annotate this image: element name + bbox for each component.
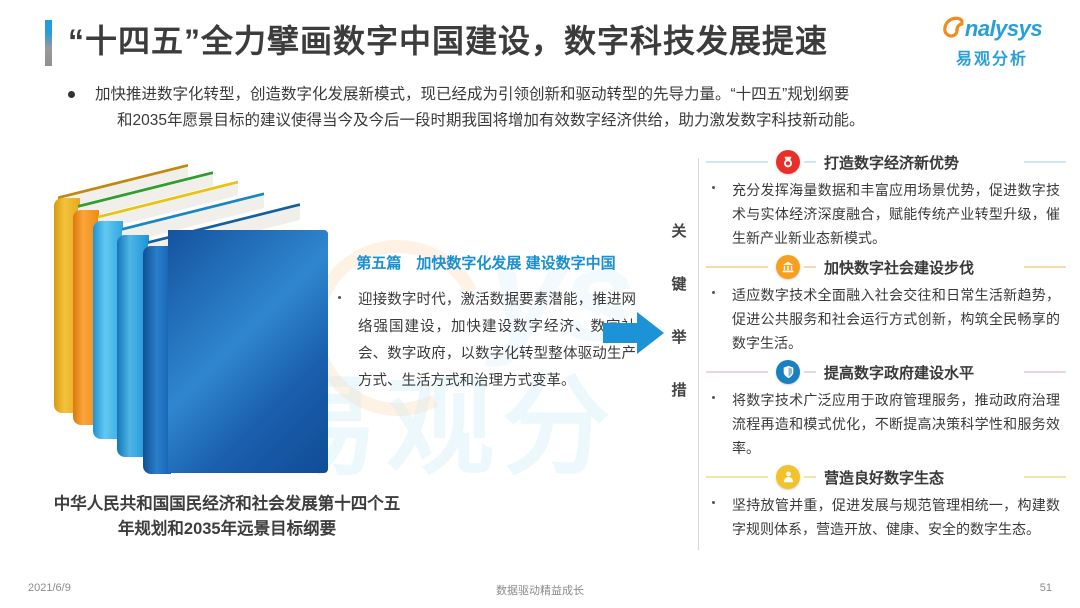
- title-accent-bar: [45, 20, 52, 66]
- intro-text: 加快推进数字化转型，创造数字化发展新模式，现已经成为引领创新和驱动转型的先导力量…: [95, 82, 1060, 134]
- section-line-right-2: [1024, 371, 1066, 373]
- section-bullet-dot-1: [712, 291, 715, 294]
- section-title-1: 加快数字社会建设步伐: [824, 257, 974, 278]
- logo-subtitle: 易观分析: [932, 45, 1052, 69]
- vlabel-char-0: 关: [668, 205, 690, 258]
- book-spine-5: [143, 246, 171, 474]
- section-bullet-dot-2: [712, 396, 715, 399]
- intro-line-2: 和2035年愿景目标的建议使得当今及今后一段时期我国将增加有效数字经济供给，助力…: [95, 108, 1060, 134]
- section-body-0: 充分发挥海量数据和丰富应用场景优势，促进数字技术与实体经济深度融合，赋能传统产业…: [706, 176, 1066, 250]
- section-body-3: 坚持放管并重，促进发展与规范管理相统一，构建数字规则体系，营造开放、健康、安全的…: [706, 491, 1066, 541]
- footer-page-number: 51: [1040, 582, 1052, 594]
- section-text-1: 适应数字技术全面融入社会交往和日常生活新趋势，促进公共服务和社会运行方式创新，构…: [732, 283, 1066, 355]
- analysys-logo: nalysys 易观分析: [932, 14, 1052, 69]
- section-header-3: 营造良好数字生态: [706, 463, 1066, 491]
- intro-bullet-dot: [68, 91, 75, 98]
- center-bullet-dot: [338, 296, 341, 299]
- section-header-1: 加快数字社会建设步伐: [706, 253, 1066, 281]
- logo-name: nalysys: [965, 16, 1042, 42]
- section-line-mid-3: [804, 476, 816, 478]
- caption-line-1: 中华人民共和国国民经济和社会发展第十四个五: [22, 492, 432, 517]
- section-text-0: 充分发挥海量数据和丰富应用场景优势，促进数字技术与实体经济深度融合，赋能传统产业…: [732, 178, 1066, 250]
- section-text-3: 坚持放管并重，促进发展与规范管理相统一，构建数字规则体系，营造开放、健康、安全的…: [732, 493, 1066, 541]
- center-text-block: 第五篇 加快数字化发展 建设数字中国 迎接数字时代，激活数据要素潜能，推进网络强…: [336, 252, 636, 395]
- section-line-right-3: [1024, 476, 1066, 478]
- caption-line-2: 年规划和2035年远景目标纲要: [22, 517, 432, 542]
- center-heading: 第五篇 加快数字化发展 建设数字中国: [336, 252, 636, 273]
- measure-section-3: 营造良好数字生态 坚持放管并重，促进发展与规范管理相统一，构建数字规则体系，营造…: [706, 463, 1066, 541]
- panel-divider-line: [698, 158, 699, 550]
- center-paragraph: 迎接数字时代，激活数据要素潜能，推进网络强国建设，加快建设数字经济、数字社会、数…: [358, 287, 636, 395]
- measure-section-2: 提高数字政府建设水平 将数字技术广泛应用于政府管理服务，推动政府治理流程再造和模…: [706, 358, 1066, 460]
- measure-section-1: 加快数字社会建设步伐 适应数字技术全面融入社会交往和日常生活新趋势，促进公共服务…: [706, 253, 1066, 355]
- section-body-1: 适应数字技术全面融入社会交往和日常生活新趋势，促进公共服务和社会运行方式创新，构…: [706, 281, 1066, 355]
- section-header-0: 打造数字经济新优势: [706, 148, 1066, 176]
- section-text-2: 将数字技术广泛应用于政府管理服务，推动政府治理流程再造和模式优化，不断提高决策科…: [732, 388, 1066, 460]
- intro-line-1: 加快推进数字化转型，创造数字化发展新模式，现已经成为引领创新和驱动转型的先导力量…: [95, 86, 849, 103]
- section-body-2: 将数字技术广泛应用于政府管理服务，推动政府治理流程再造和模式优化，不断提高决策科…: [706, 386, 1066, 460]
- section-line-right-0: [1024, 161, 1066, 163]
- logo-wordmark: nalysys: [932, 14, 1052, 44]
- section-line-mid-0: [804, 161, 816, 163]
- section-title-3: 营造良好数字生态: [824, 467, 944, 488]
- book-cover-5: [168, 230, 328, 473]
- page-footer: 2021/6/9 数据驱动精益成长 51: [0, 574, 1080, 608]
- shield-icon: [776, 360, 800, 384]
- section-line-left-1: [706, 266, 768, 268]
- vlabel-char-3: 措: [668, 364, 690, 417]
- bank-icon: [776, 255, 800, 279]
- measure-section-0: 打造数字经济新优势 充分发挥海量数据和丰富应用场景优势，促进数字技术与实体经济深…: [706, 148, 1066, 250]
- flow-arrow-icon: [603, 310, 665, 361]
- medal-icon: [776, 150, 800, 174]
- vlabel-char-2: 举: [668, 311, 690, 364]
- section-line-mid-2: [804, 371, 816, 373]
- key-measures-label: 关 键 举 措: [668, 205, 690, 417]
- section-header-2: 提高数字政府建设水平: [706, 358, 1066, 386]
- section-bullet-dot-3: [712, 501, 715, 504]
- section-line-left-3: [706, 476, 768, 478]
- section-title-0: 打造数字经济新优势: [824, 152, 959, 173]
- section-line-left-2: [706, 371, 768, 373]
- person-icon: [776, 465, 800, 489]
- vlabel-char-1: 键: [668, 258, 690, 311]
- footer-slogan: 数据驱动精益成长: [0, 582, 1080, 598]
- section-title-2: 提高数字政府建设水平: [824, 362, 974, 383]
- intro-bullet: 加快推进数字化转型，创造数字化发展新模式，现已经成为引领创新和驱动转型的先导力量…: [60, 82, 1060, 134]
- section-line-left-0: [706, 161, 768, 163]
- page-title: “十四五”全力擘画数字中国建设，数字科技发展提速: [68, 16, 828, 62]
- books-illustration: [40, 158, 350, 488]
- illustration-caption: 中华人民共和国国民经济和社会发展第十四个五 年规划和2035年远景目标纲要: [22, 492, 432, 542]
- measures-panel: 打造数字经济新优势 充分发挥海量数据和丰富应用场景优势，促进数字技术与实体经济深…: [706, 148, 1066, 544]
- section-bullet-dot-0: [712, 186, 715, 189]
- section-line-mid-1: [804, 266, 816, 268]
- center-body: 迎接数字时代，激活数据要素潜能，推进网络强国建设，加快建设数字经济、数字社会、数…: [336, 287, 636, 395]
- section-line-right-1: [1024, 266, 1066, 268]
